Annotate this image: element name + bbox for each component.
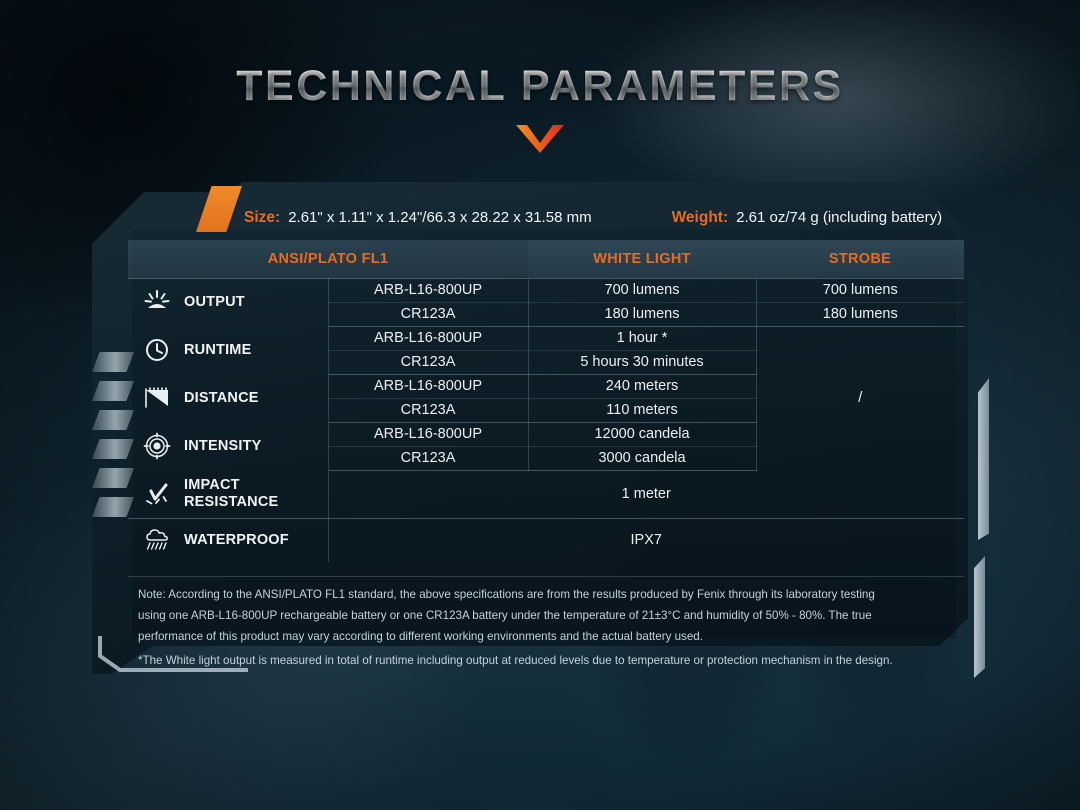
param-cell-waterproof: WATERPROOF	[128, 518, 328, 562]
page-title: TECHNICAL PARAMETERS	[0, 62, 1080, 111]
impact-resistance-value: 1 meter	[328, 470, 964, 518]
battery-name: CR123A	[328, 350, 528, 374]
table-body: OUTPUT ARB-L16-800UP 700 lumens 700 lume…	[128, 278, 964, 562]
battery-name: CR123A	[328, 302, 528, 326]
table-row: WATERPROOF IPX7	[128, 518, 964, 562]
param-label: DISTANCE	[184, 390, 259, 407]
header-parameter: ANSI/PLATO FL1	[128, 240, 528, 278]
param-label: OUTPUT	[184, 294, 245, 311]
size-label: Size:	[244, 209, 280, 227]
white-light-value: 240 meters	[528, 374, 756, 398]
weight-label: Weight:	[672, 209, 729, 227]
note-line-3: performance of this product may vary acc…	[138, 628, 954, 647]
rain-cloud-icon	[142, 525, 172, 555]
param-cell-intensity: INTENSITY	[128, 422, 328, 470]
spec-table-wrap: ANSI/PLATO FL1 WHITE LIGHT STROBE	[128, 240, 964, 562]
table-row: IMPACTRESISTANCE 1 meter	[128, 470, 964, 518]
param-cell-distance: DISTANCE	[128, 374, 328, 422]
impact-drop-icon	[142, 479, 172, 509]
header-strobe: STROBE	[756, 240, 964, 278]
table-header-row: ANSI/PLATO FL1 WHITE LIGHT STROBE	[128, 240, 964, 278]
title-block: TECHNICAL PARAMETERS	[0, 62, 1080, 153]
accent-bar-lower	[974, 556, 985, 678]
size-group: Size: 2.61" x 1.11" x 1.24"/66.3 x 28.22…	[244, 209, 592, 227]
table-head: ANSI/PLATO FL1 WHITE LIGHT STROBE	[128, 240, 964, 278]
chevron-down-icon	[516, 125, 564, 153]
param-label: WATERPROOF	[184, 532, 289, 549]
battery-name: CR123A	[328, 398, 528, 422]
battery-name: CR123A	[328, 446, 528, 470]
white-light-value: 1 hour *	[528, 326, 756, 350]
accent-bar-upper	[978, 378, 989, 540]
white-light-value: 180 lumens	[528, 302, 756, 326]
note-divider	[128, 576, 964, 577]
note-line-4: *The White light output is measured in t…	[138, 652, 954, 671]
white-light-value: 5 hours 30 minutes	[528, 350, 756, 374]
spec-panel: Size: 2.61" x 1.11" x 1.24"/66.3 x 28.22…	[92, 178, 988, 678]
table-row: RUNTIME ARB-L16-800UP 1 hour * /	[128, 326, 964, 350]
battery-name: ARB-L16-800UP	[328, 422, 528, 446]
note-line-2: using one ARB-L16-800UP rechargeable bat…	[138, 607, 954, 626]
strobe-value: 700 lumens	[756, 278, 964, 302]
weight-group: Weight: 2.61 oz/74 g (including battery)	[672, 209, 943, 227]
battery-name: ARB-L16-800UP	[328, 278, 528, 302]
weight-value: 2.61 oz/74 g (including battery)	[736, 209, 942, 226]
white-light-value: 3000 candela	[528, 446, 756, 470]
spec-table: ANSI/PLATO FL1 WHITE LIGHT STROBE	[128, 240, 964, 562]
right-accent-bars	[974, 378, 996, 678]
strobe-merged-cell: /	[756, 326, 964, 470]
note-block: Note: According to the ANSI/PLATO FL1 st…	[138, 586, 954, 673]
battery-name: ARB-L16-800UP	[328, 374, 528, 398]
table-row: OUTPUT ARB-L16-800UP 700 lumens 700 lume…	[128, 278, 964, 302]
battery-name: ARB-L16-800UP	[328, 326, 528, 350]
white-light-value: 12000 candela	[528, 422, 756, 446]
param-cell-output: OUTPUT	[128, 278, 328, 326]
param-label: INTENSITY	[184, 438, 262, 455]
param-label: IMPACTRESISTANCE	[184, 477, 278, 511]
note-line-1: Note: According to the ANSI/PLATO FL1 st…	[138, 586, 954, 605]
param-cell-runtime: RUNTIME	[128, 326, 328, 374]
target-intensity-icon	[142, 431, 172, 461]
size-value: 2.61" x 1.11" x 1.24"/66.3 x 28.22 x 31.…	[288, 209, 591, 226]
white-light-value: 700 lumens	[528, 278, 756, 302]
clock-icon	[142, 335, 172, 365]
header-white-light: WHITE LIGHT	[528, 240, 756, 278]
size-weight-bar: Size: 2.61" x 1.11" x 1.24"/66.3 x 28.22…	[140, 196, 944, 240]
strobe-value: 180 lumens	[756, 302, 964, 326]
param-cell-impact-resistance: IMPACTRESISTANCE	[128, 470, 328, 518]
param-label: RUNTIME	[184, 342, 251, 359]
beam-distance-icon	[142, 383, 172, 413]
light-burst-icon	[142, 287, 172, 317]
waterproof-value: IPX7	[328, 518, 964, 562]
white-light-value: 110 meters	[528, 398, 756, 422]
